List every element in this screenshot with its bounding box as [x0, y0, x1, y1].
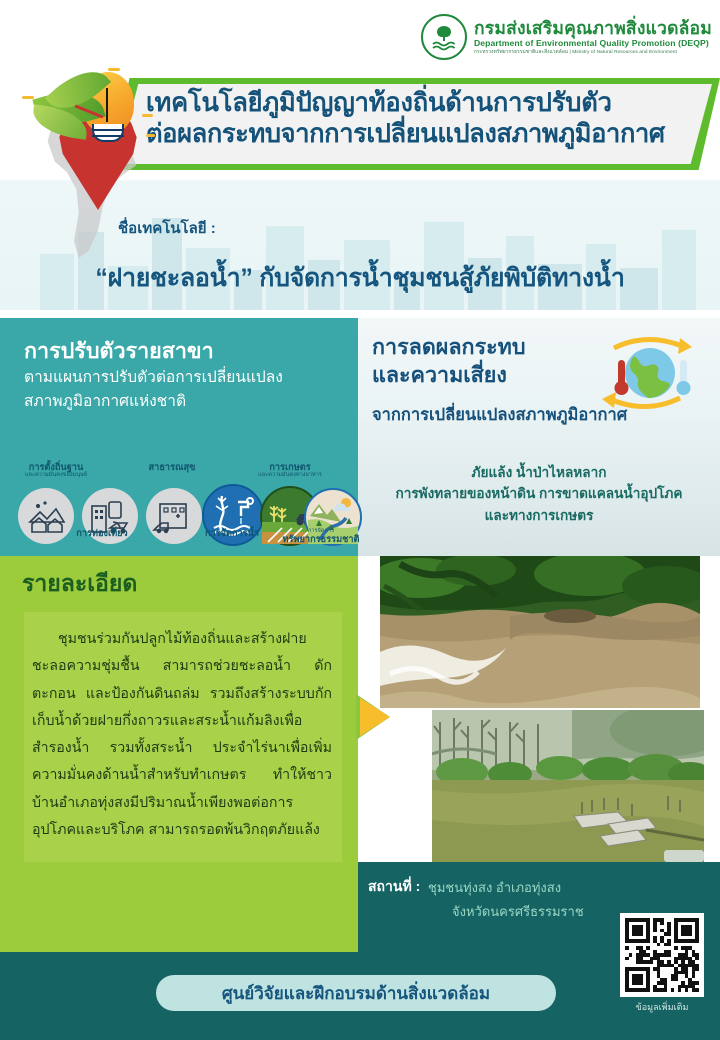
org-ministry: กระทรวงทรัพยากรธรรมชาติและสิ่งแวดล้อม | … [474, 50, 712, 55]
technology-label: ชื่อเทคโนโลยี : [118, 216, 216, 240]
tree-water-circle-logo-icon [421, 14, 467, 60]
impact-item-1: การพังทลายของหน้าดิน การขาดแคลนน้ำอุปโภค [358, 483, 720, 504]
title-line-2: ต่อผลกระทบจากการเปลี่ยนแปลงสภาพภูมิอากาศ [146, 118, 706, 151]
details-body: ชุมชนร่วมกันปลูกไม้ท้องถิ่นและสร้างฝายชะ… [24, 612, 342, 862]
spark-icon-4 [146, 134, 155, 137]
sector-label-2: สาธารณสุข [132, 462, 212, 472]
title-line-1: เทคโนโลยีภูมิปัญญาท้องถิ่นด้านการปรับตัว [146, 87, 706, 120]
weir-muddy-river-photo [380, 556, 700, 708]
sector-label-5: การจัดการ ทรัพยากรธรรมชาติ [278, 528, 364, 545]
adaptation-heading: การปรับตัวรายสาขา [24, 334, 214, 368]
adaptation-subheading-line-2: สภาพภูมิอากาศแห่งชาติ [24, 390, 344, 414]
spark-icon-3 [142, 114, 153, 117]
footer-label: ศูนย์วิจัยและฝึกอบรมด้านสิ่งแวดล้อม [222, 980, 490, 1007]
spark-icon-2 [22, 96, 34, 99]
deqp-logo: กรมส่งเสริมคุณภาพสิ่งแวดล้อม Department … [421, 14, 712, 60]
footer-center-pill: ศูนย์วิจัยและฝึกอบรมด้านสิ่งแวดล้อม [156, 975, 556, 1011]
mitigation-subheading: จากการเปลี่ยนแปลงสภาพภูมิอากาศ [372, 402, 627, 428]
org-name-en: Department of Environmental Quality Prom… [474, 39, 712, 48]
mitigation-heading: การลดผลกระทบ และความเสี่ยง [372, 334, 525, 389]
poster-root: กรมส่งเสริมคุณภาพสิ่งแวดล้อม Department … [0, 0, 720, 1040]
location-label: สถานที่ : [368, 876, 420, 898]
sector-label-3: การจัดการน้ำ [192, 528, 272, 538]
mitigation-heading-line-2: และความเสี่ยง [372, 362, 525, 390]
details-panel: รายละเอียด ชุมชนร่วมกันปลูกไม้ท้องถิ่นแล… [0, 556, 358, 952]
sector-icons-row: การตั้งถิ่นฐาน และความมั่นคงของมนุษย์ [6, 462, 358, 548]
bulb-base-icon [92, 124, 124, 142]
location-line-1: ชุมชนทุ่งสง อำเภอทุ่งสง [428, 877, 561, 898]
poster-header: กรมส่งเสริมคุณภาพสิ่งแวดล้อม Department … [0, 0, 720, 310]
adaptation-subheading: ตามแผนการปรับตัวต่อการเปลี่ยนแปลง สภาพภู… [24, 366, 344, 413]
page-title: เทคโนโลยีภูมิปัญญาท้องถิ่นด้านการปรับตัว… [146, 87, 706, 150]
org-name-th: กรมส่งเสริมคุณภาพสิ่งแวดล้อม [474, 19, 712, 37]
mitigation-impacts-list: ภัยแล้ง น้ำป่าไหลหลาก การพังทลายของหน้าด… [358, 462, 720, 526]
qr-code[interactable] [620, 913, 704, 997]
impact-item-2: และทางการเกษตร [358, 505, 720, 526]
qr-caption: ข้อมูลเพิ่มเติม [620, 1000, 704, 1014]
adaptation-subheading-line-1: ตามแผนการปรับตัวต่อการเปลี่ยนแปลง [24, 366, 344, 390]
sector-label-1: การท่องเที่ยว [54, 528, 150, 538]
bulb-filament-icon [106, 88, 108, 122]
title-ribbon: เทคโนโลยีภูมิปัญญาท้องถิ่นด้านการปรับตัว… [110, 78, 720, 170]
impact-item-0: ภัยแล้ง น้ำป่าไหลหลาก [358, 462, 720, 483]
flooded-reservoir-photo [432, 710, 704, 862]
sector-label-4: การเกษตร และความมั่นคงทางอาหาร [238, 462, 342, 479]
details-heading: รายละเอียด [22, 566, 137, 602]
mitigation-heading-line-1: การลดผลกระทบ [372, 334, 525, 362]
location-line-2: จังหวัดนครศรีธรรมราช [452, 901, 584, 922]
sector-label-0: การตั้งถิ่นฐาน และความมั่นคงของมนุษย์ [8, 462, 104, 479]
spark-icon-1 [108, 68, 120, 71]
globe-thermometer-icon [592, 334, 702, 412]
technology-name: “ฝายชะลอน้ำ” กับจัดการน้ำชุมชนสู้ภัยพิบั… [0, 258, 720, 298]
details-paragraph: ชุมชนร่วมกันปลูกไม้ท้องถิ่นและสร้างฝายชะ… [32, 626, 332, 844]
